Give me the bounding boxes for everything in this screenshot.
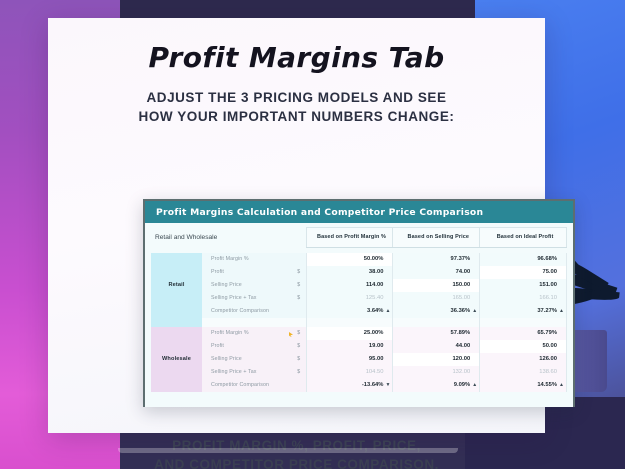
currency-symbol: $ xyxy=(292,340,306,353)
currency-symbol xyxy=(292,305,306,318)
table-row: Profit$19.0044.0050.00 xyxy=(151,340,567,353)
subtitle-line-2: HOW YOUR IMPORTANT NUMBERS CHANGE: xyxy=(58,107,535,126)
column-header-2: Based on Selling Price xyxy=(393,228,480,248)
editable-cell[interactable]: 75.00 xyxy=(480,266,567,279)
value-cell: 44.00 xyxy=(393,340,480,353)
editable-cell[interactable]: 120.00 xyxy=(393,353,480,366)
column-header-1: Based on Profit Margin % xyxy=(306,228,393,248)
row-label: Selling Price xyxy=(202,353,292,366)
value-cell: 36.36%▲ xyxy=(393,305,480,318)
spreadsheet-panel: Profit Margins Calculation and Competito… xyxy=(143,199,575,407)
profit-margins-table: Retail and WholesaleBased on Profit Marg… xyxy=(151,227,567,392)
row-label: Profit xyxy=(202,266,292,279)
row-group-header: Retail and Wholesale xyxy=(151,228,306,248)
table-row: Competitor Comparison-13.64%▼9.09%▲14.55… xyxy=(151,379,567,392)
row-label: Profit Margin % xyxy=(202,253,292,266)
value-cell: 74.00 xyxy=(393,266,480,279)
presentation-slide: Profit Margins Tab ADJUST THE 3 PRICING … xyxy=(48,18,545,433)
row-label: Profit xyxy=(202,340,292,353)
column-header-3: Based on Ideal Profit xyxy=(480,228,567,248)
table-row: Profit$38.0074.0075.00 xyxy=(151,266,567,279)
table-row: Selling Price + Tax$125.40165.00166.10 xyxy=(151,292,567,305)
value-cell: 57.89% xyxy=(393,327,480,340)
value-cell: 151.00 xyxy=(480,279,567,292)
editable-cell[interactable]: 25.00% xyxy=(306,327,393,340)
spacer-cell xyxy=(393,318,480,327)
currency-symbol: $ xyxy=(292,353,306,366)
table-row: RetailProfit Margin %50.00%97.37%96.68% xyxy=(151,253,567,266)
row-label: Competitor Comparison xyxy=(202,305,292,318)
value-cell: 138.60 xyxy=(480,366,567,379)
subtitle-line-1: ADJUST THE 3 PRICING MODELS AND SEE xyxy=(58,88,535,107)
section-label-wholesale: Wholesale xyxy=(151,327,202,392)
section-tint xyxy=(151,318,202,327)
row-label: Competitor Comparison xyxy=(202,379,292,392)
currency-symbol: $ xyxy=(292,266,306,279)
value-cell: 65.79% xyxy=(480,327,567,340)
value-cell: 95.00 xyxy=(306,353,393,366)
arrow-up-icon: ▲ xyxy=(559,382,564,388)
value-cell: 125.40 xyxy=(306,292,393,305)
arrow-down-icon: ▼ xyxy=(385,382,390,388)
value-cell: 114.00 xyxy=(306,279,393,292)
spreadsheet-body: Retail and WholesaleBased on Profit Marg… xyxy=(145,223,573,407)
row-label: Selling Price + Tax xyxy=(202,366,292,379)
value-cell: 19.00 xyxy=(306,340,393,353)
value-cell: 132.00 xyxy=(393,366,480,379)
currency-symbol: $ xyxy=(292,366,306,379)
arrow-up-icon: ▲ xyxy=(385,308,390,314)
section-label-retail: Retail xyxy=(151,253,202,318)
caption-line-2: AND COMPETITOR PRICE COMPARISON. xyxy=(48,455,545,469)
row-label: Selling Price xyxy=(202,279,292,292)
currency-symbol: $ xyxy=(292,327,306,340)
value-cell: 166.10 xyxy=(480,292,567,305)
editable-cell[interactable]: 50.00% xyxy=(306,253,393,266)
value-cell: 104.50 xyxy=(306,366,393,379)
currency-symbol: $ xyxy=(292,279,306,292)
table-header-row: Retail and WholesaleBased on Profit Marg… xyxy=(151,228,567,248)
value-cell: 96.68% xyxy=(480,253,567,266)
currency-symbol: $ xyxy=(292,292,306,305)
spacer-cell xyxy=(480,318,567,327)
value-cell: 97.37% xyxy=(393,253,480,266)
currency-symbol xyxy=(292,379,306,392)
value-cell: 165.00 xyxy=(393,292,480,305)
value-cell: -13.64%▼ xyxy=(306,379,393,392)
section-spacer xyxy=(151,318,567,327)
row-label: Selling Price + Tax xyxy=(202,292,292,305)
table-row: Competitor Comparison3.64%▲36.36%▲37.27%… xyxy=(151,305,567,318)
value-cell: 3.64%▲ xyxy=(306,305,393,318)
row-label: Profit Margin % xyxy=(202,327,292,340)
spacer-cell xyxy=(202,318,306,327)
value-cell: 37.27%▲ xyxy=(480,305,567,318)
value-cell: 9.09%▲ xyxy=(393,379,480,392)
spreadsheet-title: Profit Margins Calculation and Competito… xyxy=(156,207,483,218)
currency-symbol xyxy=(292,253,306,266)
arrow-up-icon: ▲ xyxy=(559,308,564,314)
arrow-up-icon: ▲ xyxy=(472,308,477,314)
value-cell: 126.00 xyxy=(480,353,567,366)
spacer-cell xyxy=(306,318,393,327)
laptop-base xyxy=(118,448,458,453)
table-row: WholesaleProfit Margin %$25.00%57.89%65.… xyxy=(151,327,567,340)
editable-cell[interactable]: 50.00 xyxy=(480,340,567,353)
spreadsheet-title-bar: Profit Margins Calculation and Competito… xyxy=(145,201,573,223)
table-row: Selling Price$95.00120.00126.00 xyxy=(151,353,567,366)
table-row: Selling Price$114.00150.00151.00 xyxy=(151,279,567,292)
arrow-up-icon: ▲ xyxy=(472,382,477,388)
table-row: Selling Price + Tax$104.50132.00138.60 xyxy=(151,366,567,379)
value-cell: 38.00 xyxy=(306,266,393,279)
slide-subtitle: ADJUST THE 3 PRICING MODELS AND SEE HOW … xyxy=(58,88,535,126)
page-title: Profit Margins Tab xyxy=(58,44,535,72)
value-cell: 14.55%▲ xyxy=(480,379,567,392)
editable-cell[interactable]: 150.00 xyxy=(393,279,480,292)
